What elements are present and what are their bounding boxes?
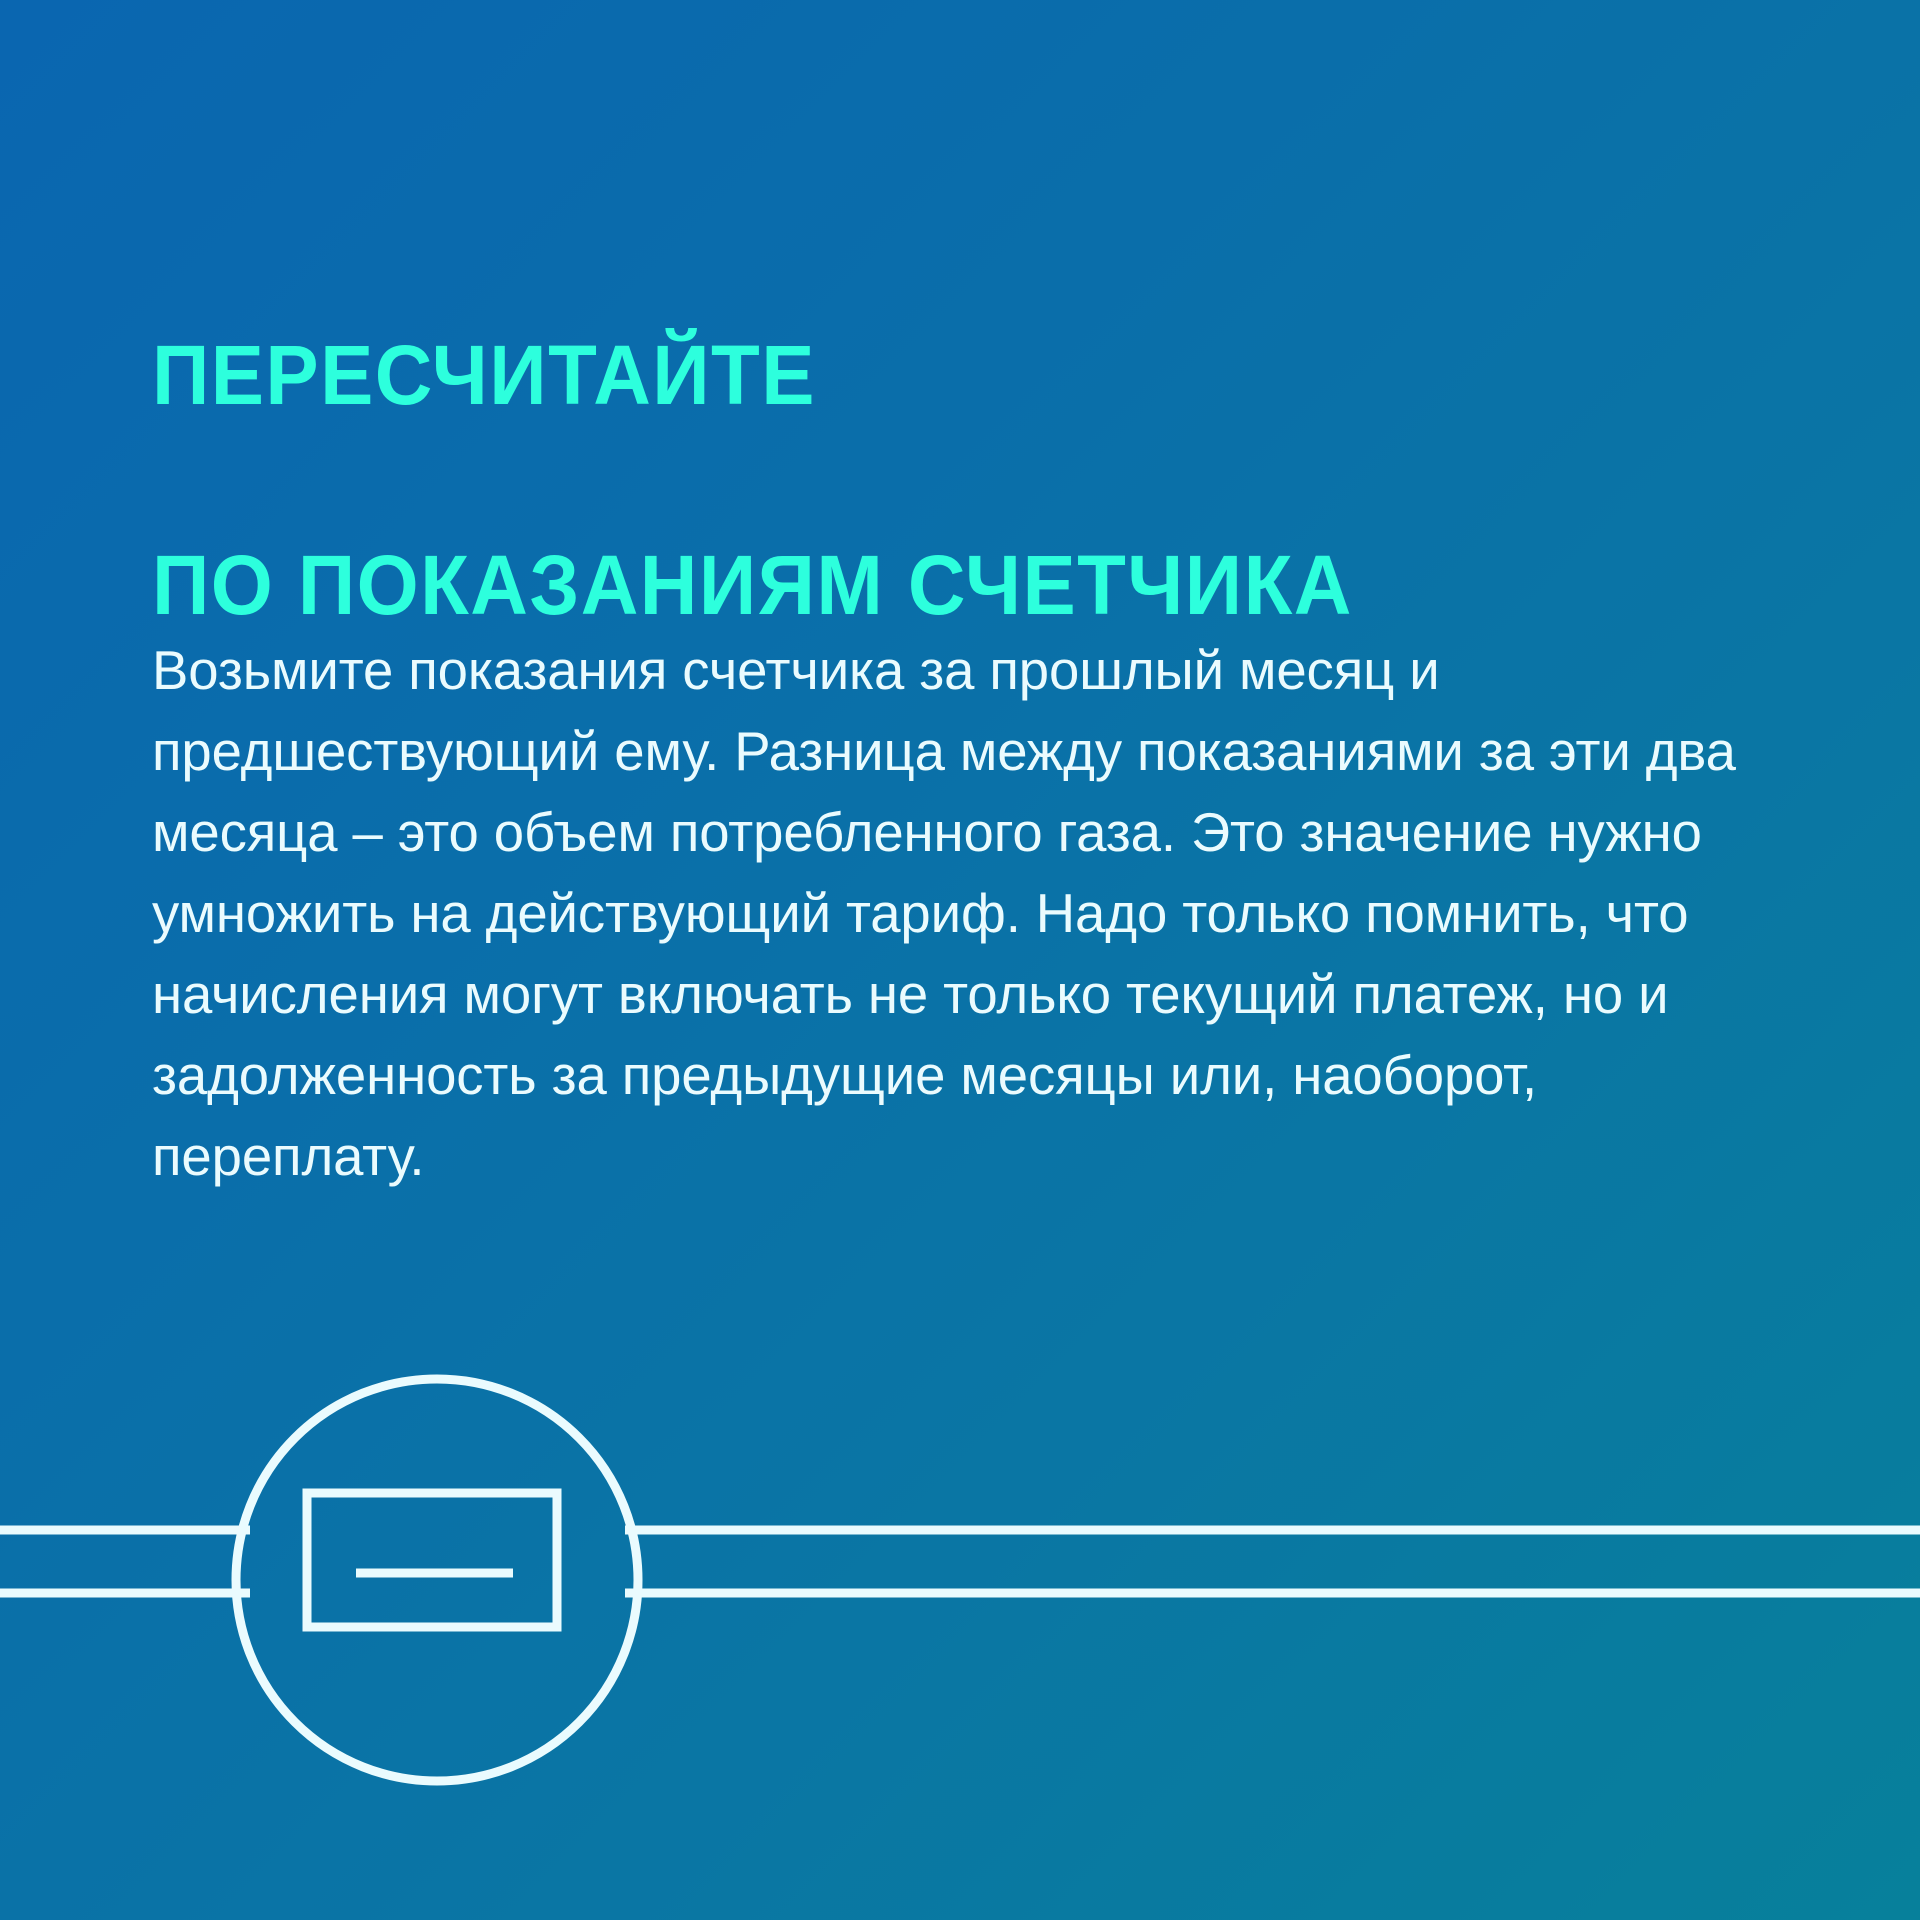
- meter-display-rect: [307, 1493, 557, 1627]
- page-title-line-1: ПЕРЕСЧИТАЙТЕ: [152, 323, 1710, 428]
- gas-meter-svg: [0, 1330, 1920, 1920]
- body-paragraph: Возьмите показания счетчика за прошлый м…: [152, 630, 1752, 1197]
- page-title-line-2: ПО ПОКАЗАНИЯМ СЧЕТЧИКА: [152, 533, 1710, 638]
- gas-meter-illustration: [0, 1330, 1920, 1920]
- slide-canvas: ПЕРЕСЧИТАЙТЕ ПО ПОКАЗАНИЯМ СЧЕТЧИКА Возь…: [0, 0, 1920, 1920]
- meter-circle: [236, 1379, 638, 1781]
